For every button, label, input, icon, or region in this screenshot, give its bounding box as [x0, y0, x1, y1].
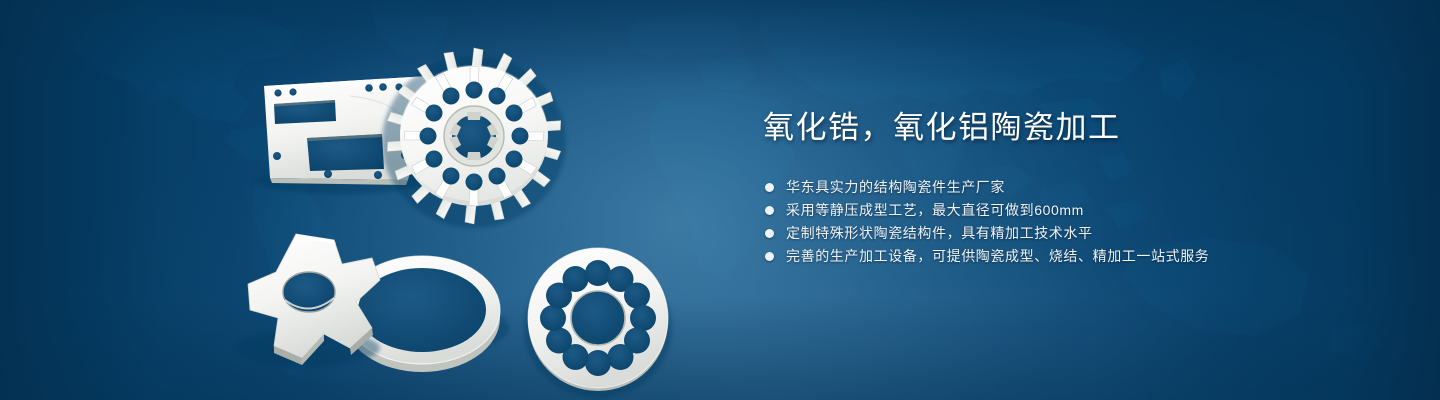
list-item-label: 定制特殊形状陶瓷结构件，具有精加工技术水平 — [786, 222, 1093, 245]
list-item-label: 采用等静压成型工艺，最大直径可做到600mm — [786, 199, 1084, 222]
list-item-label: 华东具实力的结构陶瓷件生产厂家 — [786, 176, 1005, 199]
page-title: 氧化锆，氧化铝陶瓷加工 — [763, 108, 1363, 148]
bullet-dot-icon — [765, 206, 774, 215]
list-item: 定制特殊形状陶瓷结构件，具有精加工技术水平 — [765, 222, 1363, 245]
product-image-collage — [230, 28, 700, 378]
list-item: 采用等静压成型工艺，最大直径可做到600mm — [765, 199, 1363, 222]
bullet-dot-icon — [765, 252, 774, 261]
feature-list: 华东具实力的结构陶瓷件生产厂家 采用等静压成型工艺，最大直径可做到600mm 定… — [765, 176, 1363, 268]
list-item: 华东具实力的结构陶瓷件生产厂家 — [765, 176, 1363, 199]
ceramic-hole-disc-part — [524, 248, 672, 398]
ceramic-impeller-part — [382, 48, 566, 228]
ceramic-cross-part — [236, 234, 380, 366]
list-item-label: 完善的生产加工设备，可提供陶瓷成型、烧结、精加工一站式服务 — [786, 245, 1209, 268]
bullet-dot-icon — [765, 229, 774, 238]
hero-banner: 氧化锆，氧化铝陶瓷加工 华东具实力的结构陶瓷件生产厂家 采用等静压成型工艺，最大… — [0, 0, 1440, 400]
bullet-dot-icon — [765, 183, 774, 192]
banner-copy: 氧化锆，氧化铝陶瓷加工 华东具实力的结构陶瓷件生产厂家 采用等静压成型工艺，最大… — [763, 108, 1363, 268]
list-item: 完善的生产加工设备，可提供陶瓷成型、烧结、精加工一站式服务 — [765, 245, 1363, 268]
